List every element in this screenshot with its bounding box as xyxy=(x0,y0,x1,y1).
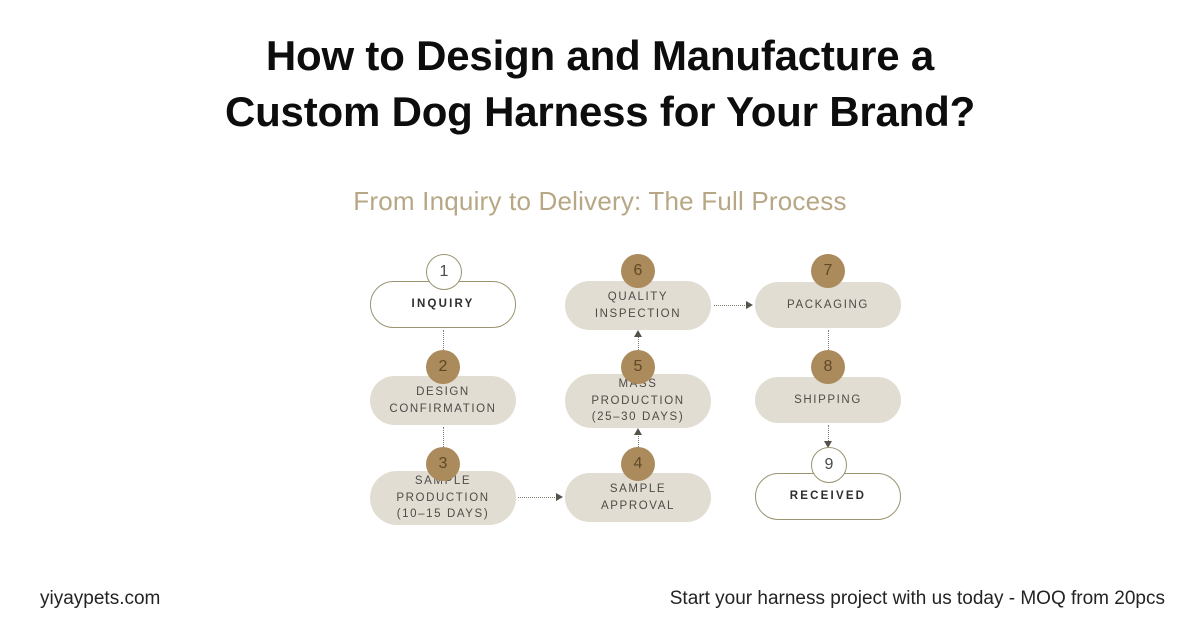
flow-badge-4: 4 xyxy=(621,447,655,481)
flow-badge-7: 7 xyxy=(811,254,845,288)
arrow-4-to-5-icon xyxy=(634,428,642,435)
footer-cta-text: Start your harness project with us today… xyxy=(670,588,1165,610)
flow-badge-number: 4 xyxy=(634,456,643,472)
flow-node-label: DESIGN CONFIRMATION xyxy=(379,384,506,417)
page-title-line-1: How to Design and Manufacture a xyxy=(0,28,1200,84)
flow-badge-1: 1 xyxy=(426,254,462,290)
flow-badge-number: 8 xyxy=(824,359,833,375)
flow-node-label: PACKAGING xyxy=(777,297,879,314)
arrow-5-to-6-icon xyxy=(634,330,642,337)
page-title-line-2: Custom Dog Harness for Your Brand? xyxy=(0,84,1200,140)
connector-2-to-3 xyxy=(443,427,444,449)
flow-badge-number: 9 xyxy=(825,457,834,473)
flow-node-label: SAMPLE APPROVAL xyxy=(591,481,685,514)
flow-badge-2: 2 xyxy=(426,350,460,384)
arrow-6-to-7-icon xyxy=(746,301,753,309)
footer-site-name: yiyaypets.com xyxy=(40,588,160,610)
page-header: How to Design and Manufacture a Custom D… xyxy=(0,28,1200,140)
arrow-3-to-4-icon xyxy=(556,493,563,501)
flow-badge-number: 1 xyxy=(440,264,449,280)
flow-node-label: INQUIRY xyxy=(402,296,485,313)
flow-badge-number: 6 xyxy=(634,263,643,279)
flow-node-label: SHIPPING xyxy=(784,392,872,409)
flow-badge-9: 9 xyxy=(811,447,847,483)
flow-badge-number: 3 xyxy=(439,456,448,472)
flow-node-label: RECEIVED xyxy=(780,488,876,505)
flowchart-caption: From Inquiry to Delivery: The Full Proce… xyxy=(0,186,1200,217)
flow-badge-8: 8 xyxy=(811,350,845,384)
connector-6-to-7 xyxy=(714,305,747,306)
flow-badge-number: 7 xyxy=(824,263,833,279)
flow-badge-number: 2 xyxy=(439,359,448,375)
flow-badge-3: 3 xyxy=(426,447,460,481)
flow-node-quality-inspection: QUALITY INSPECTION xyxy=(565,281,711,330)
flow-badge-5: 5 xyxy=(621,350,655,384)
flow-node-packaging: PACKAGING xyxy=(755,282,901,328)
flow-badge-number: 5 xyxy=(634,359,643,375)
flow-node-label: QUALITY INSPECTION xyxy=(585,289,691,322)
flow-badge-6: 6 xyxy=(621,254,655,288)
connector-3-to-4 xyxy=(518,497,557,498)
